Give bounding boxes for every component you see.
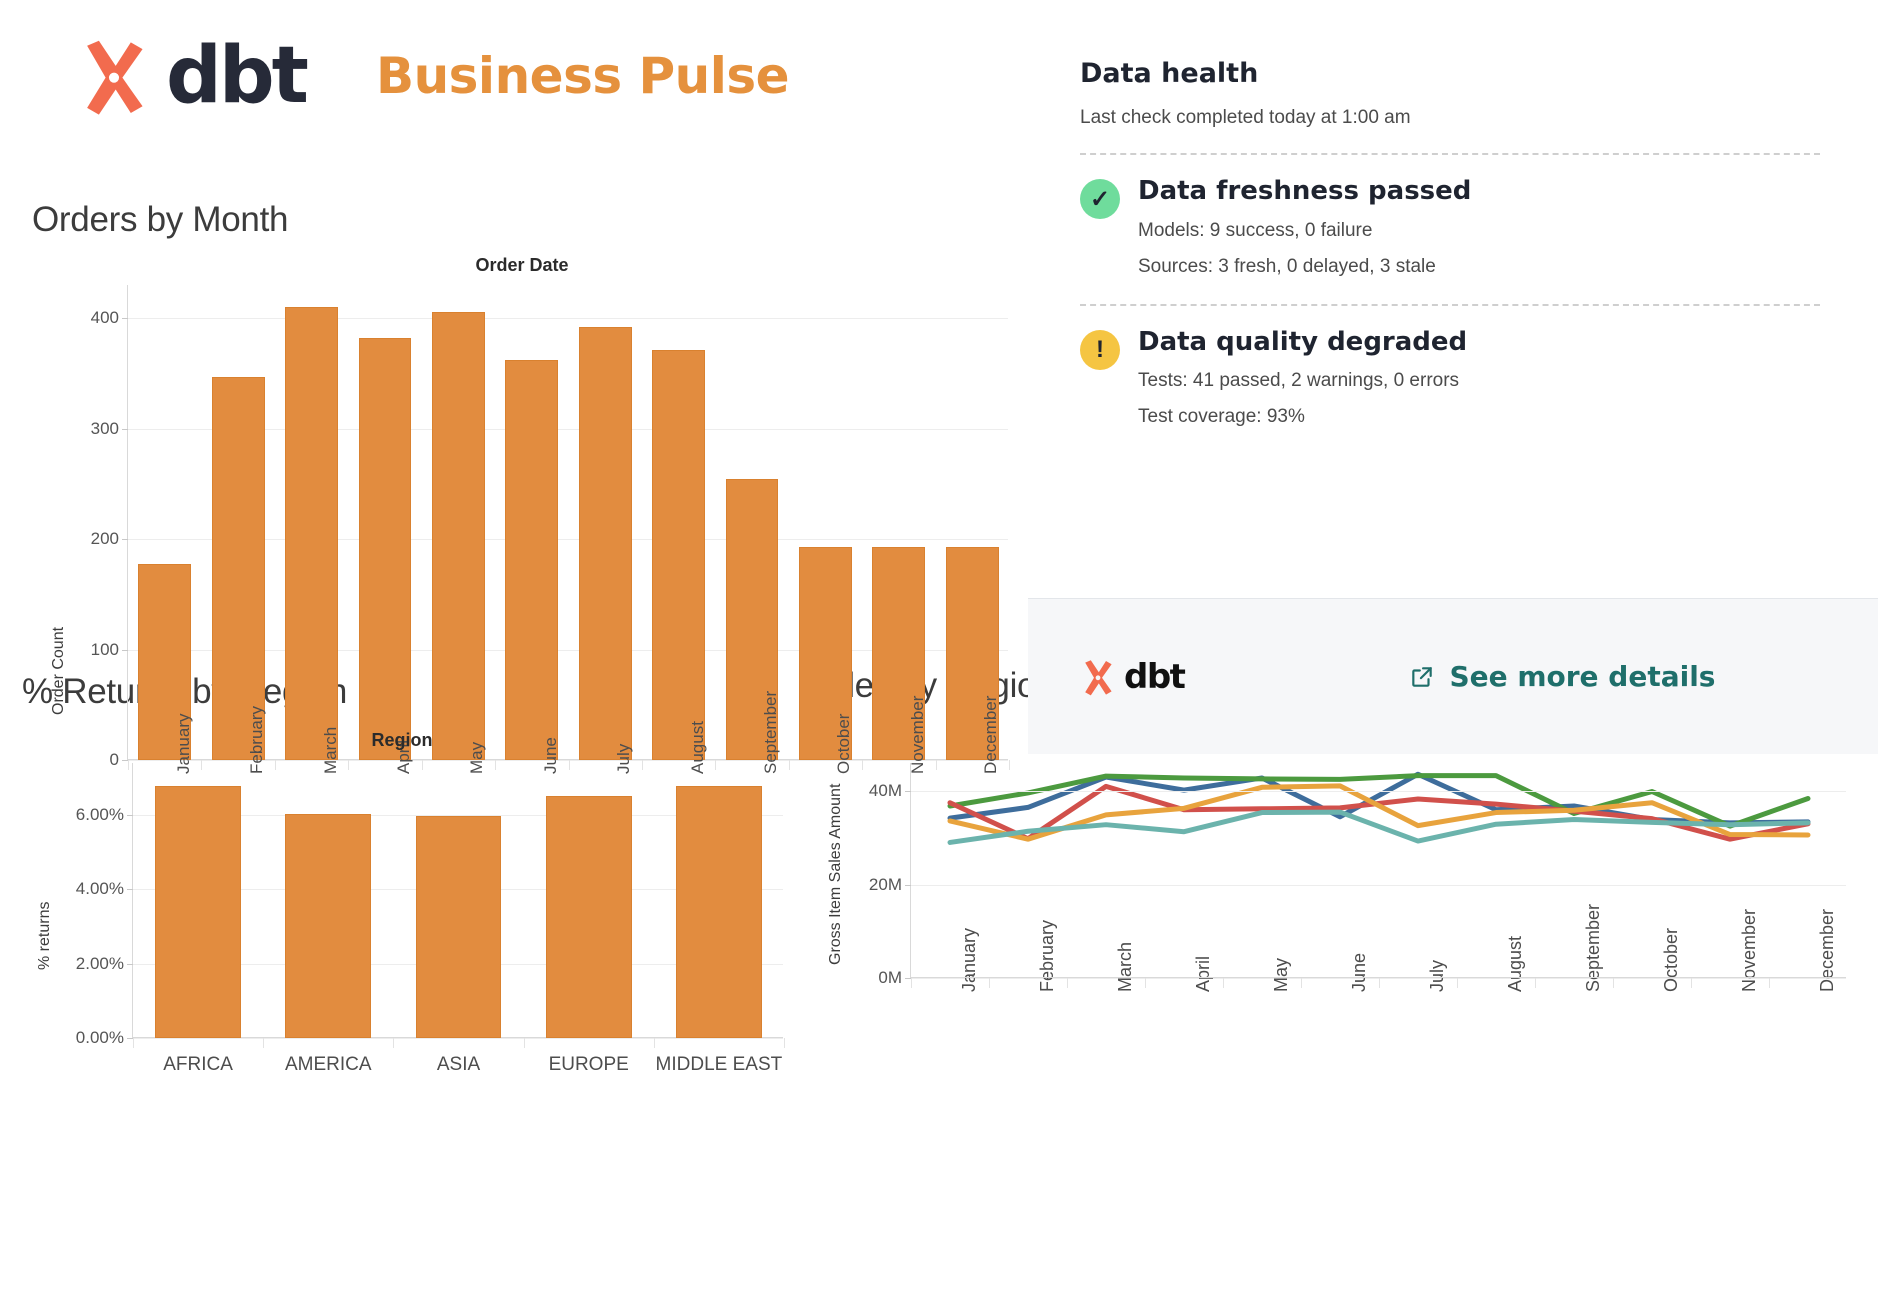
x-axis-tick [911, 978, 912, 988]
sales-by-region-chart: Order Date Gross Item Sales Amount 0M20M… [805, 730, 1865, 1110]
data-health-subtitle: Last check completed today at 1:00 am [1080, 107, 1820, 129]
dbt-logo: dbt [72, 34, 306, 118]
x-axis-tick-label: MIDDLE EAST [656, 1054, 783, 1076]
x-axis-tick [1223, 978, 1224, 988]
y-axis-tick-mark [122, 650, 128, 651]
returns-by-region-chart: Region % returns 0.00%2.00%4.00%6.00%AFR… [22, 730, 802, 1110]
y-axis-tick-mark [905, 791, 911, 792]
gridline [128, 318, 1008, 319]
x-axis-tick [1769, 978, 1770, 988]
check-glyph: ✓ [1090, 185, 1110, 214]
dbt-logo-icon [72, 34, 156, 118]
see-more-details-label: See more details [1449, 660, 1715, 693]
y-axis-tick-label: 200 [91, 529, 119, 549]
y-axis-tick-mark [122, 539, 128, 540]
data-health-panel: Data health Last check completed today a… [1080, 58, 1820, 428]
health-item-freshness-line-2: Sources: 3 fresh, 0 delayed, 3 stale [1138, 256, 1471, 278]
x-axis-tick-label: AMERICA [285, 1054, 372, 1076]
data-health-title: Data health [1080, 58, 1820, 89]
y-axis-tick-mark [122, 429, 128, 430]
gridline [133, 1038, 783, 1039]
bar[interactable] [652, 350, 705, 760]
page-title: Business Pulse [376, 47, 789, 105]
warning-circle-icon: ! [1080, 330, 1120, 370]
x-axis-tick-label: October [1661, 928, 1682, 992]
bar[interactable] [285, 814, 371, 1038]
x-axis-tick [1067, 978, 1068, 988]
bar[interactable] [359, 338, 412, 760]
x-axis-tick-label: April [1193, 956, 1214, 992]
bar[interactable] [579, 327, 632, 760]
x-axis-tick [1613, 978, 1614, 988]
y-axis-tick-label: 20M [869, 875, 902, 895]
x-axis-tick-label: EUROPE [549, 1054, 629, 1076]
returns-plot-area: 0.00%2.00%4.00%6.00%AFRICAAMERICAASIAEUR… [132, 763, 783, 1038]
dbt-wordmark: dbt [166, 37, 306, 115]
health-item-quality-line-2: Test coverage: 93% [1138, 406, 1467, 428]
x-axis-tick-label: ASIA [437, 1054, 480, 1076]
x-axis-tick-label: November [1739, 909, 1760, 992]
x-axis-tick [1457, 978, 1458, 988]
sales-y-axis-label: Gross Item Sales Amount [827, 784, 845, 965]
health-item-quality-heading: Data quality degraded [1138, 328, 1467, 357]
x-axis-tick [654, 1038, 655, 1048]
bar[interactable] [432, 312, 485, 760]
health-item-quality: ! Data quality degraded Tests: 41 passed… [1080, 328, 1820, 429]
x-axis-tick [393, 1038, 394, 1048]
x-axis-tick [263, 1038, 264, 1048]
y-axis-tick-label: 2.00% [76, 954, 124, 974]
divider [1080, 304, 1820, 306]
x-axis-tick [1145, 978, 1146, 988]
x-axis-tick-label: January [959, 928, 980, 992]
bar[interactable] [155, 786, 241, 1038]
y-axis-tick-mark [127, 889, 133, 890]
bar[interactable] [416, 816, 502, 1038]
health-item-freshness: ✓ Data freshness passed Models: 9 succes… [1080, 177, 1820, 278]
x-axis-tick [133, 1038, 134, 1048]
cta-dbt-logo: dbt [1078, 657, 1184, 697]
dashboard-header: dbt Business Pulse [72, 34, 789, 118]
x-axis-tick-label: AFRICA [163, 1054, 233, 1076]
orders-y-axis-label: Order Count [50, 627, 68, 715]
cta-dbt-wordmark: dbt [1124, 657, 1184, 697]
x-axis-line [911, 977, 1846, 978]
health-item-freshness-heading: Data freshness passed [1138, 177, 1471, 206]
y-axis-tick-label: 100 [91, 640, 119, 660]
x-axis-tick [1691, 978, 1692, 988]
bar[interactable] [285, 307, 338, 760]
y-axis-tick-label: 0.00% [76, 1028, 124, 1048]
y-axis-tick-label: 400 [91, 308, 119, 328]
health-item-freshness-line-1: Models: 9 success, 0 failure [1138, 220, 1471, 242]
bar[interactable] [212, 377, 265, 760]
x-axis-tick [1379, 978, 1380, 988]
health-item-quality-line-1: Tests: 41 passed, 2 warnings, 0 errors [1138, 370, 1467, 392]
external-link-icon [1409, 664, 1435, 690]
y-axis-tick-mark [122, 318, 128, 319]
y-axis-tick-label: 6.00% [76, 805, 124, 825]
dbt-logo-icon [1078, 657, 1118, 697]
x-axis-tick [1535, 978, 1536, 988]
warning-glyph: ! [1096, 336, 1104, 364]
y-axis-tick-label: 40M [869, 781, 902, 801]
x-axis-tick [784, 1038, 785, 1048]
x-axis-tick-label: December [1817, 909, 1838, 992]
y-axis-tick-label: 4.00% [76, 879, 124, 899]
y-axis-tick-mark [905, 885, 911, 886]
orders-by-month-chart: Order Date Order Count 0100200300400Janu… [32, 255, 1022, 635]
y-axis-tick-mark [127, 815, 133, 816]
y-axis-tick-label: 0M [878, 968, 902, 988]
orders-section-title: Orders by Month [32, 200, 288, 240]
x-axis-tick [989, 978, 990, 988]
y-axis-tick-label: 300 [91, 419, 119, 439]
y-axis-tick-mark [127, 964, 133, 965]
orders-chart-title: Order Date [32, 255, 1012, 276]
x-axis-tick-label: May [1271, 958, 1292, 992]
x-axis-tick-label: March [1115, 942, 1136, 992]
x-axis-tick-label: July [1427, 960, 1448, 992]
gridline [911, 885, 1846, 886]
bar[interactable] [676, 786, 762, 1038]
returns-y-axis-label: % returns [36, 902, 54, 970]
x-axis-tick [524, 1038, 525, 1048]
dashboard-page: dbt Business Pulse Orders by Month % Ret… [0, 0, 1878, 1312]
see-more-details-link[interactable]: See more details [1409, 660, 1715, 693]
returns-chart-title: Region [22, 730, 782, 751]
x-axis-tick-label: August [1505, 936, 1526, 992]
x-axis-tick-label: February [1037, 920, 1058, 992]
gridline [911, 791, 1846, 792]
check-circle-icon: ✓ [1080, 179, 1120, 219]
x-axis-tick-label: September [1583, 904, 1604, 992]
x-axis-tick-label: June [1349, 953, 1370, 992]
bar[interactable] [546, 796, 632, 1038]
see-more-details-banner: dbt See more details [1028, 598, 1878, 754]
orders-plot-area: 0100200300400JanuaryFebruaryMarchAprilMa… [127, 285, 1008, 760]
sales-plot-area: 0M20M40MJanuaryFebruaryMarchAprilMayJune… [910, 763, 1846, 978]
bar[interactable] [505, 360, 558, 760]
x-axis-tick [1301, 978, 1302, 988]
divider [1080, 153, 1820, 155]
